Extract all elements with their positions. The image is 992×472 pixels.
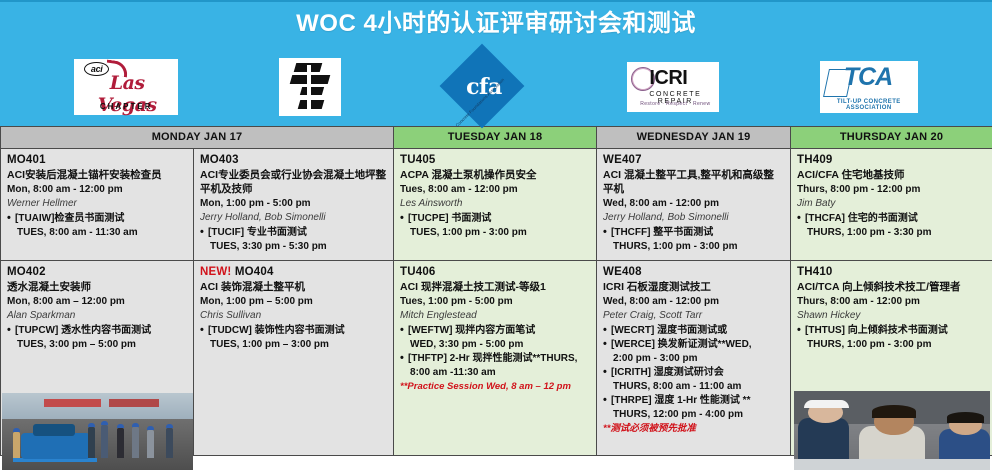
exam-label: [THCFA] 住宅的书面测试 <box>797 212 986 226</box>
exam-time: TUES, 8:00 am - 11:30 am <box>7 226 187 240</box>
exam-item: [THTUS] 向上倾斜技术书面测试THURS, 1:00 pm - 3:00 … <box>797 324 986 352</box>
photo-attendee-2-hair <box>872 405 915 418</box>
photo-tent-a <box>44 399 101 407</box>
exam-label: [ICRITH] 湿度测试研讨会 <box>603 366 784 380</box>
course-code: WE408 <box>603 266 784 279</box>
icri-tagline: Restore · Respect · Renew <box>633 101 717 107</box>
exam-label: [WEFTW] 现拌内容方面笔试 <box>400 324 590 338</box>
day-header-row: MONDAY JAN 17 TUESDAY JAN 18 WEDNESDAY J… <box>1 127 992 149</box>
exam-label: [TUCIF] 专业书面测试 <box>200 226 387 240</box>
aci-las-vegas-chapter-logo: aci Las Vegas CHAPTER <box>74 59 178 115</box>
course-code: WE407 <box>603 154 784 167</box>
photo-machine-top <box>33 424 75 436</box>
course-title: ACI/CFA 住宅地基技师 <box>797 168 986 182</box>
course-time: Mon, 1:00 pm - 5:00 pm <box>200 197 387 211</box>
course-title: ACI专业委员会或行业协会混凝土地坪整平机及技师 <box>200 168 387 196</box>
photo-attendee-3-hair <box>947 412 984 422</box>
exam-item: [TUCIF] 专业书面测试TUES, 3:30 pm - 5:30 pm <box>200 226 387 254</box>
course-time: Mon, 8:00 am - 12:00 pm <box>7 183 187 197</box>
exam-item: [THFTP] 2-Hr 现拌性能测试**THURS,8:00 am -11:3… <box>400 352 590 380</box>
course-time: Mon, 1:00 pm – 5:00 pm <box>200 295 387 309</box>
exam-list: [THTUS] 向上倾斜技术书面测试THURS, 1:00 pm - 3:00 … <box>797 324 986 352</box>
course-title: ACI 混凝土整平工具,整平机和高级整平机 <box>603 168 784 196</box>
exam-item: [THRPE] 湿度 1-Hr 性能测试 **THURS, 12:00 pm -… <box>603 394 784 422</box>
course-cell-tu405[interactable]: TU405ACPA 混凝土泵机操作员安全Tues, 8:00 am - 12:0… <box>394 149 597 261</box>
course-code: TH409 <box>797 154 986 167</box>
day-header-tuesday: TUESDAY JAN 18 <box>394 127 597 149</box>
course-instructor: Chris Sullivan <box>200 309 387 323</box>
photo-hardhat-icon <box>101 421 108 425</box>
exam-item: [WEFTW] 现拌内容方面笔试WED, 3:30 pm - 5:00 pm <box>400 324 590 352</box>
exam-item: [ICRITH] 湿度测试研讨会THURS, 8:00 am - 11:00 a… <box>603 366 784 394</box>
exam-label: [WERCE] 换发新证测试**WED, <box>603 338 784 352</box>
banner: WOC 4小时的认证评审研讨会和测试 aci Las Vegas CHAPTER <box>0 0 992 126</box>
exam-label: [TUDCW] 装饰性内容书面测试 <box>200 324 387 338</box>
course-time: Tues, 1:00 pm - 5:00 pm <box>400 295 590 309</box>
exam-item: [TUDCW] 装饰性内容书面测试TUES, 1:00 pm – 3:00 pm <box>200 324 387 352</box>
course-instructor: Werner Hellmer <box>7 197 187 211</box>
photo-person <box>101 425 108 457</box>
tca-logo: TCA TILT-UP CONCRETE ASSOCIATION <box>820 61 918 113</box>
course-cell-tu406[interactable]: TU406ACI 现拌混凝土技工测试-等级1Tues, 1:00 pm - 5:… <box>394 261 597 456</box>
tca-subtext: TILT-UP CONCRETE ASSOCIATION <box>820 99 918 111</box>
exam-label: [THCFF] 整平书面测试 <box>603 226 784 240</box>
exam-time: WED, 3:30 pm - 5:00 pm <box>400 338 590 352</box>
ascc-glyph-icon <box>287 63 333 111</box>
ascc-logo <box>279 58 341 116</box>
course-cell-mo401[interactable]: MO401ACI安装后混凝土锚杆安装检查员Mon, 8:00 am - 12:0… <box>1 149 194 261</box>
course-code: MO403 <box>200 154 387 167</box>
woc-schedule-page: WOC 4小时的认证评审研讨会和测试 aci Las Vegas CHAPTER <box>0 0 992 472</box>
exam-list: [WECRT] 湿度书面测试或[WERCE] 换发新证测试**WED,2:00 … <box>603 324 784 422</box>
course-instructor: Mitch Englestead <box>400 309 590 323</box>
icri-wordmark: ICRI <box>649 67 717 90</box>
exam-list: [TUAIW]检查员书面测试TUES, 8:00 am - 11:30 am <box>7 212 187 240</box>
course-instructor: Jerry Holland, Bob Simonelli <box>603 211 784 225</box>
photo-attendee-1 <box>798 418 849 459</box>
exam-item: [THCFA] 住宅的书面测试THURS, 1:00 pm - 3:30 pm <box>797 212 986 240</box>
photo-person <box>13 432 20 458</box>
course-cell-we407[interactable]: WE407ACI 混凝土整平工具,整平机和高级整平机Wed, 8:00 am -… <box>597 149 791 261</box>
photo-tent-b <box>109 399 159 407</box>
course-instructor: Peter Craig, Scott Tarr <box>603 309 784 323</box>
day-header-monday: MONDAY JAN 17 <box>1 127 394 149</box>
exam-item: [TUCPE] 书面测试TUES, 1:00 pm - 3:00 pm <box>400 212 590 240</box>
photo-hardhat-icon <box>88 423 95 427</box>
course-instructor: Les Ainsworth <box>400 197 590 211</box>
course-time: Mon, 8:00 am – 12:00 pm <box>7 295 187 309</box>
exam-time: THURS, 1:00 pm - 3:30 pm <box>797 226 986 240</box>
course-code: TU405 <box>400 154 590 167</box>
exam-time: TUES, 1:00 pm - 3:00 pm <box>400 226 590 240</box>
course-cell-th409[interactable]: TH409ACI/CFA 住宅地基技师Thurs, 8:00 pm - 12:0… <box>791 149 992 261</box>
course-code: MO402 <box>7 266 187 279</box>
course-time: Wed, 8:00 am - 12:00 pm <box>603 295 784 309</box>
exam-time: TUES, 1:00 pm – 3:00 pm <box>200 338 387 352</box>
course-title: ACI 装饰混凝土整平机 <box>200 280 387 294</box>
exam-label: [THFTP] 2-Hr 现拌性能测试**THURS, <box>400 352 590 366</box>
course-code: TH410 <box>797 266 986 279</box>
exam-time: 2:00 pm - 3:00 pm <box>603 352 784 366</box>
course-title: ACI 现拌混凝土技工测试-等级1 <box>400 280 590 294</box>
photo-hardhat-icon <box>147 426 154 430</box>
photo-machine-body <box>21 433 90 459</box>
exam-label: [WECRT] 湿度书面测试或 <box>603 324 784 338</box>
icri-logo: ICRI CONCRETE REPAIR Restore · Respect ·… <box>627 62 719 112</box>
course-time: Thurs, 8:00 am - 12:00 pm <box>797 295 986 309</box>
photo-person <box>132 427 139 458</box>
exam-list: [TUPCW] 透水性内容书面测试TUES, 3:00 pm – 5:00 pm <box>7 324 187 352</box>
course-time: Wed, 8:00 am - 12:00 pm <box>603 197 784 211</box>
exam-label: [TUPCW] 透水性内容书面测试 <box>7 324 187 338</box>
exam-label: [THTUS] 向上倾斜技术书面测试 <box>797 324 986 338</box>
course-code: NEW! MO404 <box>200 266 387 279</box>
exam-item: [THCFF] 整平书面测试THURS, 1:00 pm - 3:00 pm <box>603 226 784 254</box>
photo-room-table <box>794 459 990 470</box>
chapter-wordmark: CHAPTER <box>74 102 178 111</box>
photo-person <box>88 427 95 458</box>
course-code: TU406 <box>400 266 590 279</box>
exam-time: TUES, 3:00 pm – 5:00 pm <box>7 338 187 352</box>
footnote: **Practice Session Wed, 8 am – 12 pm <box>400 380 590 393</box>
course-cell-mo403[interactable]: MO403ACI专业委员会或行业协会混凝土地坪整平机及技师Mon, 1:00 p… <box>194 149 394 261</box>
exam-label: [TUAIW]检查员书面测试 <box>7 212 187 226</box>
course-title: ICRI 石板湿度测试技工 <box>603 280 784 294</box>
course-instructor: Shawn Hickey <box>797 309 986 323</box>
exam-item: [WECRT] 湿度书面测试或 <box>603 324 784 338</box>
cfa-logo: cfa Concrete Foundations Association <box>441 48 527 126</box>
course-title: ACPA 混凝土泵机操作员安全 <box>400 168 590 182</box>
tca-wordmark: TCA <box>844 63 892 92</box>
photo-person <box>166 428 173 457</box>
course-cell-we408[interactable]: WE408ICRI 石板湿度测试技工Wed, 8:00 am - 12:00 p… <box>597 261 791 456</box>
exam-time: THURS, 1:00 pm - 3:00 pm <box>603 240 784 254</box>
exam-time: TUES, 3:30 pm - 5:30 pm <box>200 240 387 254</box>
exam-item: [TUPCW] 透水性内容书面测试TUES, 3:00 pm – 5:00 pm <box>7 324 187 352</box>
exam-item: [WERCE] 换发新证测试**WED,2:00 pm - 3:00 pm <box>603 338 784 366</box>
photo-hardhat-icon <box>132 423 139 427</box>
exam-list: [TUDCW] 装饰性内容书面测试TUES, 1:00 pm – 3:00 pm <box>200 324 387 352</box>
exam-label: [TUCPE] 书面测试 <box>400 212 590 226</box>
exam-time: THURS, 1:00 pm - 3:00 pm <box>797 338 986 352</box>
course-title: ACI安装后混凝土锚杆安装检查员 <box>7 168 187 182</box>
schedule-row: MO401ACI安装后混凝土锚杆安装检查员Mon, 8:00 am - 12:0… <box>1 149 992 261</box>
exam-label: [THRPE] 湿度 1-Hr 性能测试 ** <box>603 394 784 408</box>
course-cell-mo404[interactable]: NEW! MO404ACI 装饰混凝土整平机Mon, 1:00 pm – 5:0… <box>194 261 394 456</box>
exam-list: [THCFA] 住宅的书面测试THURS, 1:00 pm - 3:30 pm <box>797 212 986 240</box>
photo-hardhat-icon <box>117 424 124 428</box>
course-instructor: Jerry Holland, Bob Simonelli <box>200 211 387 225</box>
exam-list: [TUCPE] 书面测试TUES, 1:00 pm - 3:00 pm <box>400 212 590 240</box>
photo-classroom-attendees <box>794 391 990 470</box>
course-title: 透水混凝土安装师 <box>7 280 187 294</box>
photo-hardhat-icon <box>166 424 173 428</box>
footnote: **测试必须被预先批准 <box>603 422 784 435</box>
exam-list: [THCFF] 整平书面测试THURS, 1:00 pm - 3:00 pm <box>603 226 784 254</box>
exam-list: [TUCIF] 专业书面测试TUES, 3:30 pm - 5:30 pm <box>200 226 387 254</box>
photo-attendee-1-cap <box>804 400 849 409</box>
new-badge: NEW! <box>200 266 231 278</box>
exam-time: 8:00 am -11:30 am <box>400 366 590 380</box>
day-header-wednesday: WEDNESDAY JAN 19 <box>597 127 791 149</box>
course-title: ACI/TCA 向上倾斜技术技工/管理者 <box>797 280 986 294</box>
exam-list: [WEFTW] 现拌内容方面笔试WED, 3:30 pm - 5:00 pm[T… <box>400 324 590 380</box>
course-code: MO401 <box>7 154 187 167</box>
day-header-thursday: THURSDAY JAN 20 <box>791 127 992 149</box>
exam-time: THURS, 12:00 pm - 4:00 pm <box>603 408 784 422</box>
course-instructor: Jim Baty <box>797 197 986 211</box>
exam-time: THURS, 8:00 am - 11:00 am <box>603 380 784 394</box>
logo-row: aci Las Vegas CHAPTER cfa Concrete Found… <box>0 48 992 126</box>
photo-person <box>117 428 124 457</box>
photo-person <box>147 430 154 458</box>
page-title: WOC 4小时的认证评审研讨会和测试 <box>0 2 992 39</box>
course-time: Tues, 8:00 am - 12:00 pm <box>400 183 590 197</box>
course-time: Thurs, 8:00 pm - 12:00 pm <box>797 183 986 197</box>
exam-item: [TUAIW]检查员书面测试TUES, 8:00 am - 11:30 am <box>7 212 187 240</box>
photo-machine-arm <box>13 458 97 462</box>
photo-concrete-trowel-demo <box>2 393 193 470</box>
course-instructor: Alan Sparkman <box>7 309 187 323</box>
